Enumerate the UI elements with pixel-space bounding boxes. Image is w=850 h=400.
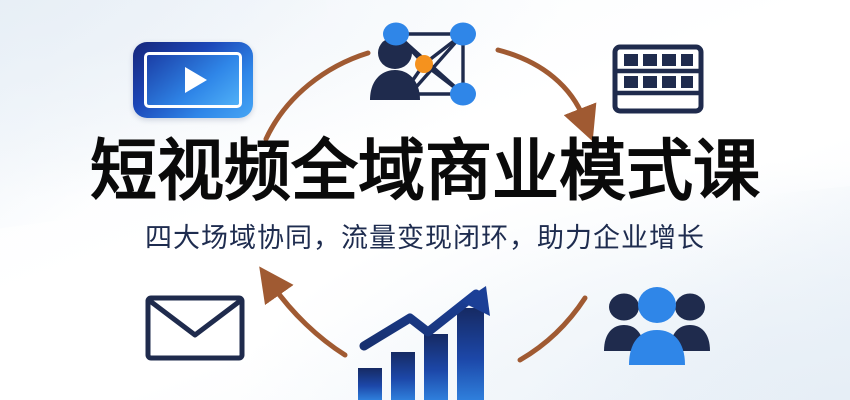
promo-banner: 短视频全域商业模式课 四大场域协同，流量变现闭环，助力企业增长 [0,0,850,400]
arc-arrow-bottom-right [520,298,585,360]
video-play-icon-frame [133,42,253,118]
arc-arrow-top-right [498,50,584,119]
video-play-icon [133,42,253,118]
network-user-icon [362,8,482,112]
page-subtitle: 四大场域协同，流量变现闭环，助力企业增长 [0,222,850,254]
arc-arrow-top-left [266,53,368,139]
arc-arrow-bottom-left [273,286,345,355]
page-title: 短视频全域商业模式课 [0,138,850,206]
play-triangle-icon [185,67,207,93]
growth-chart-icon [350,280,510,400]
team-group-icon [602,285,712,367]
shelf-rack-icon [612,44,704,114]
headline-block: 短视频全域商业模式课 四大场域协同，流量变现闭环，助力企业增长 [0,138,850,255]
envelope-icon [145,295,245,361]
video-play-icon-screen [144,52,242,108]
